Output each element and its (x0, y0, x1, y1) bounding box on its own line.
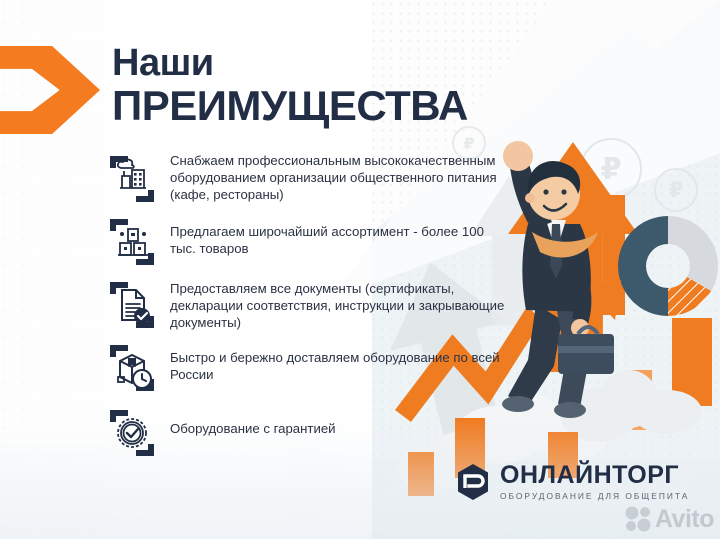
list-item: Оборудование с гарантией (106, 404, 510, 458)
avito-watermark: Avito (624, 505, 714, 533)
cube-logo-icon (455, 462, 491, 502)
avito-watermark-label: Avito (655, 507, 714, 532)
company-tagline: ОБОРУДОВАНИЕ ДЛЯ ОБЩЕПИТА (500, 492, 689, 500)
advantages-list: Снабжаем профессиональным высококачестве… (106, 152, 510, 467)
title-line-2: ПРЕИМУЩЕСТВА (112, 85, 468, 128)
guarantee-seal-icon (106, 404, 158, 458)
list-item-label: Снабжаем профессиональным высококачестве… (170, 152, 510, 203)
list-item: Предлагаем широчайший ассортимент - боле… (106, 215, 510, 269)
document-check-icon (106, 278, 158, 332)
list-item-label: Оборудование с гарантией (170, 404, 336, 437)
title-line-1: Наши (112, 44, 468, 83)
company-name: ОНЛАЙНТОРГ (500, 463, 689, 488)
avito-dots-icon (624, 505, 652, 533)
factory-building-icon (106, 152, 158, 206)
list-item: Снабжаем профессиональным высококачестве… (106, 152, 510, 206)
list-item-label: Быстро и бережно доставляем оборудование… (170, 341, 510, 383)
ruble-symbol-icon: ₽ (654, 168, 698, 212)
company-logo: ОНЛАЙНТОРГ ОБОРУДОВАНИЕ ДЛЯ ОБЩЕПИТА (455, 462, 689, 502)
list-item-label: Предоставляем все документы (сертификаты… (170, 278, 510, 331)
list-item: Быстро и бережно доставляем оборудование… (106, 341, 510, 395)
shop-counter-icon (106, 215, 158, 269)
advantages-poster: ₽ ₽ ₽ (0, 0, 720, 539)
list-item-label: Предлагаем широчайший ассортимент - боле… (170, 215, 510, 257)
box-clock-delivery-icon (106, 341, 158, 395)
list-item: Предоставляем все документы (сертификаты… (106, 278, 510, 332)
page-title: Наши ПРЕИМУЩЕСТВА (112, 44, 468, 128)
